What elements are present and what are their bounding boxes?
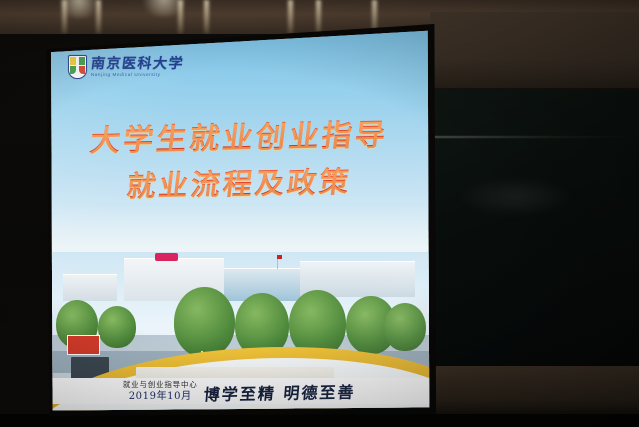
date-label: 2019年10月 <box>123 390 198 404</box>
university-motto: 博学至精 明德至善 <box>202 378 356 405</box>
lecture-hall-photo: 南京医科大学 Nanjing Medical University 大学生就业创… <box>0 0 639 427</box>
wall-lower-band <box>430 366 639 414</box>
slide-footer: 就业与创业指导中心 2019年10月 博学至精 明德至善 <box>48 378 430 404</box>
chalk-smudge <box>456 176 576 218</box>
university-name-cn: 南京医科大学 <box>90 57 185 71</box>
blackboard <box>434 88 639 370</box>
university-logo: 南京医科大学 Nanjing Medical University <box>68 55 184 79</box>
light-streak <box>178 0 183 34</box>
campus-building <box>63 274 116 301</box>
light-streak <box>316 0 321 34</box>
tree <box>98 306 136 348</box>
wall-upper-band <box>430 12 639 90</box>
slide-title: 大学生就业创业指导 就业流程及政策 <box>48 122 430 214</box>
shield-crest-icon <box>68 55 87 79</box>
light-streak <box>62 0 67 34</box>
red-flag <box>277 255 282 259</box>
chalk-smear <box>434 136 639 138</box>
tree <box>174 287 235 358</box>
title-line-2: 就业流程及政策 <box>48 164 430 205</box>
light-streak <box>204 0 209 34</box>
light-streak <box>288 0 293 34</box>
tree <box>384 303 426 351</box>
red-notice-board <box>67 335 100 355</box>
organizer-label: 就业与创业指导中心 <box>123 380 198 390</box>
light-streak <box>96 0 101 34</box>
university-name-en: Nanjing Medical University <box>91 73 184 78</box>
rooftop-red-sign <box>155 253 178 261</box>
floor-band <box>0 414 639 427</box>
title-line-1: 大学生就业创业指导 <box>48 118 430 160</box>
projection-screen[interactable]: 南京医科大学 Nanjing Medical University 大学生就业创… <box>48 30 430 412</box>
